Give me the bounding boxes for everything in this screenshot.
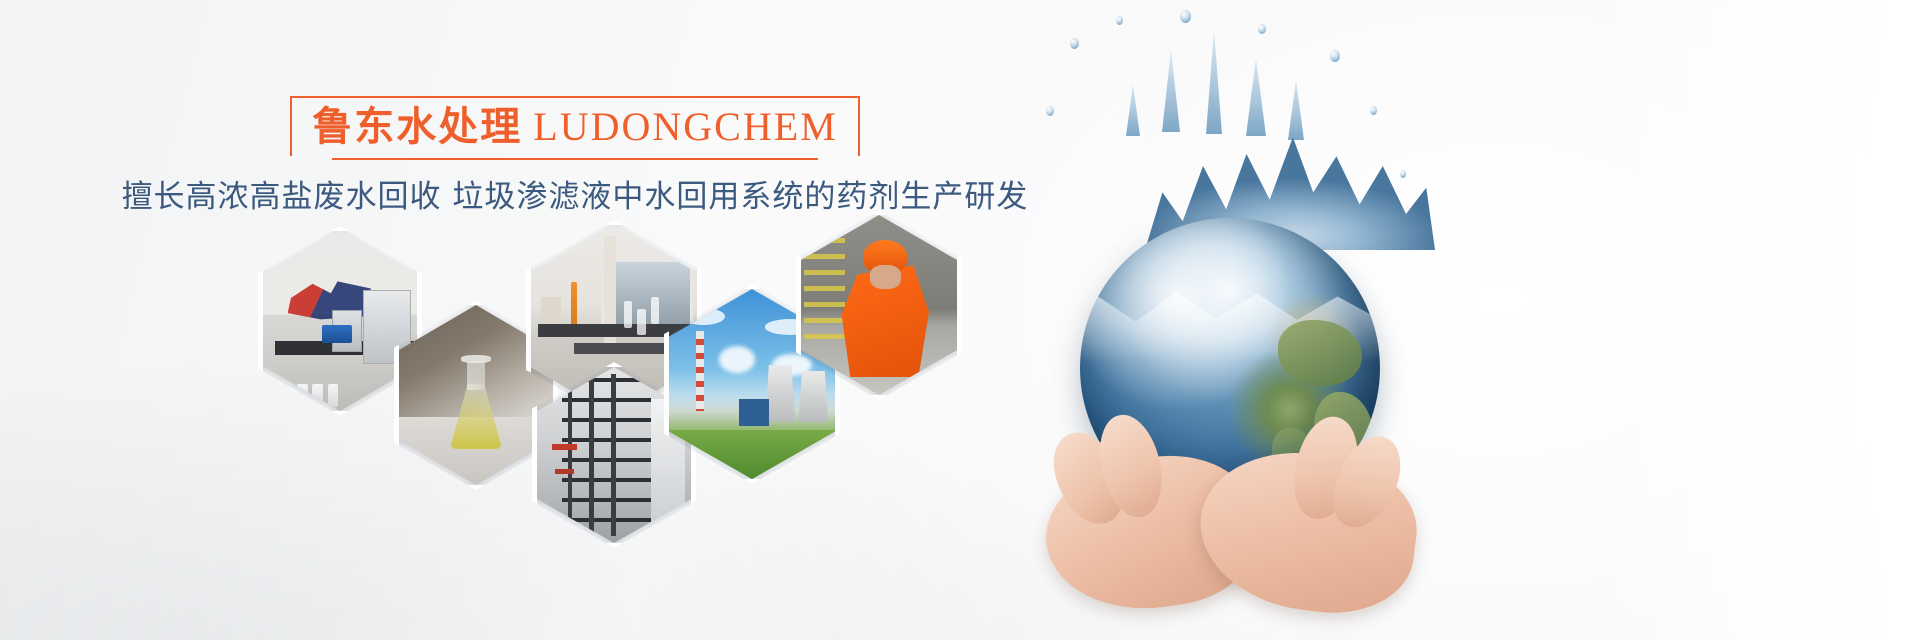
brand-title-frame: 鲁东水处理 LUDONGCHEM — [290, 96, 859, 160]
hero-banner: 鲁东水处理 LUDONGCHEM 擅长高浓高盐废水回收 垃圾渗滤液中水回用系统的… — [0, 0, 1920, 640]
title-rule-top — [300, 96, 849, 98]
cupped-hands — [1028, 400, 1438, 640]
brand-name-cn: 鲁东水处理 — [312, 103, 522, 150]
hexagon-gallery — [230, 222, 990, 522]
brand-title: 鲁东水处理 LUDONGCHEM — [312, 100, 837, 154]
right-fade-overlay — [1590, 0, 1920, 640]
water-globe-artwork — [970, 0, 1490, 640]
photo-field-engineer — [801, 215, 957, 395]
brand-name-en: LUDONGCHEM — [533, 104, 837, 149]
photo-laboratory-room — [263, 231, 417, 411]
title-rule-bottom — [332, 158, 817, 160]
